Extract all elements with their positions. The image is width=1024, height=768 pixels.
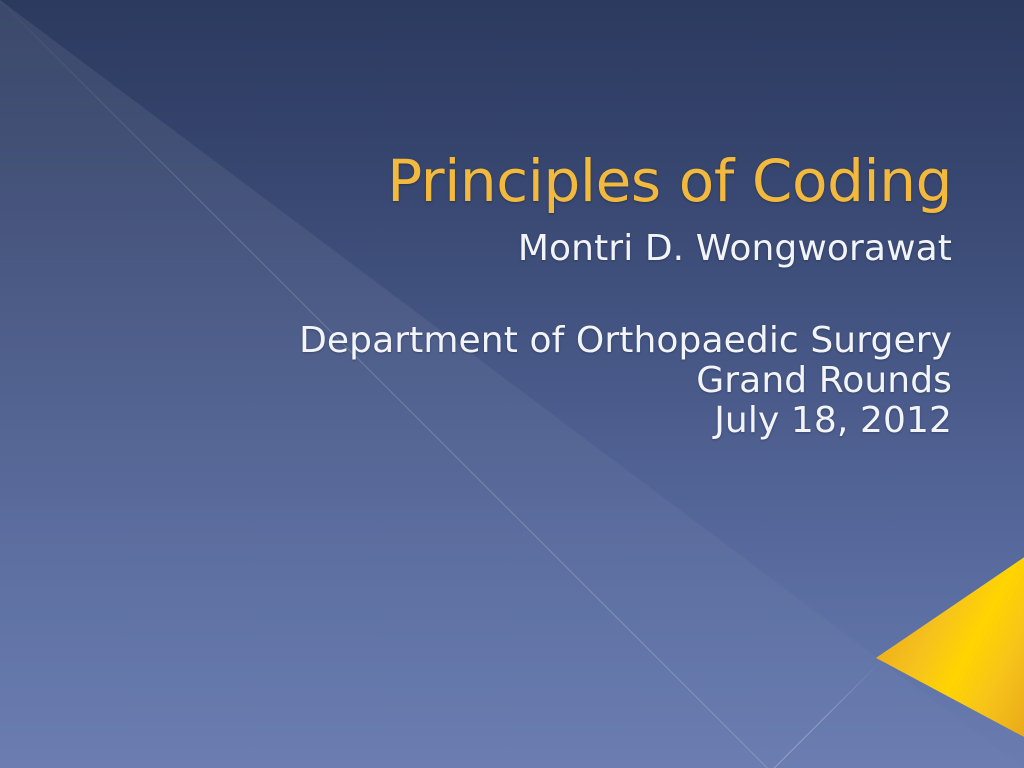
presentation-slide: Principles of Coding Montri D. Wongworaw… [0,0,1024,768]
subtitle-presenter: Montri D. Wongworawat [60,231,952,271]
subtitle-date: July 18, 2012 [60,403,952,443]
subtitle-department: Department of Orthopaedic Surgery [60,323,952,363]
subtitle-event: Grand Rounds [60,363,952,403]
slide-subtitle-block: Montri D. Wongworawat Department of Orth… [60,231,952,443]
title-text-block: Principles of Coding Montri D. Wongworaw… [60,150,952,443]
diagonal-highlight-line-secondary [577,660,882,768]
slide-title: Principles of Coding [60,150,952,213]
gold-triangle-accent [876,556,1024,738]
